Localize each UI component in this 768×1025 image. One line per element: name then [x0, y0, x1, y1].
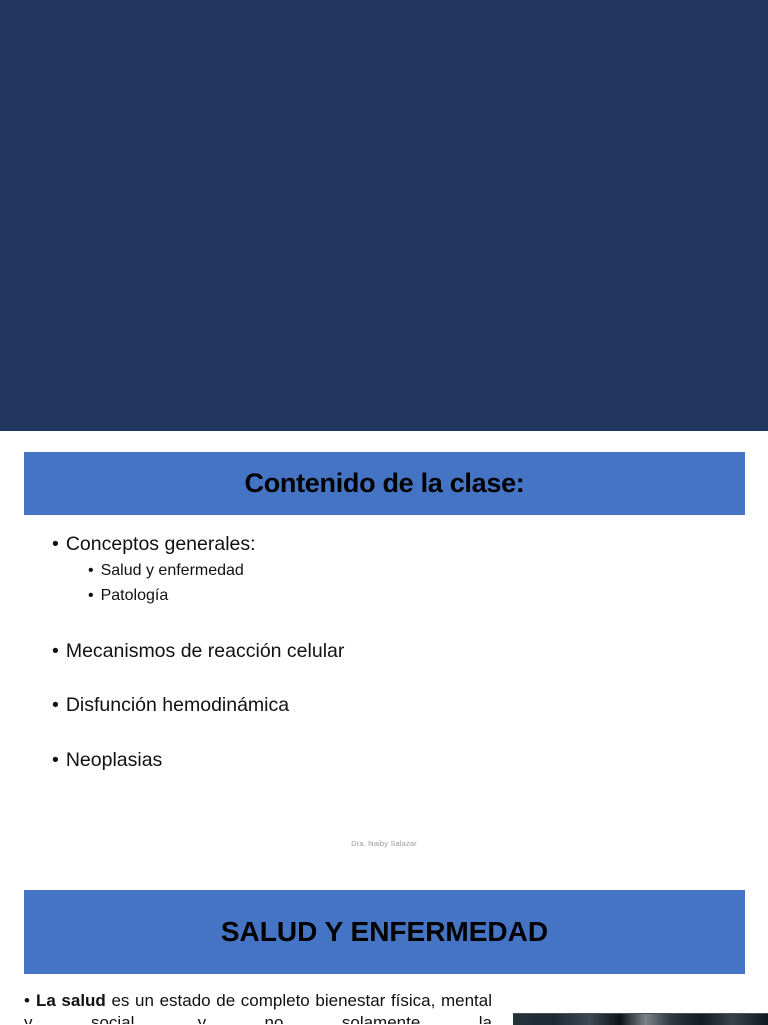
slide-title: SALUD Y ENFERMEDAD	[221, 917, 548, 948]
bullet-dot-icon: •	[52, 640, 59, 662]
slide-footer-author: Dra. Naiby Salazar	[0, 839, 768, 848]
bullet-dot-icon: •	[52, 694, 59, 716]
spacer	[52, 613, 692, 642]
bullet-dot-icon: •	[52, 533, 59, 555]
bullet-dot-icon: •	[88, 587, 94, 604]
bullet-list: •Conceptos generales: •Salud y enfermeda…	[52, 535, 692, 778]
slide-title-banner: Contenido de la clase:	[24, 452, 745, 515]
list-item: •Conceptos generales:	[52, 535, 692, 555]
slide-contenido-de-la-clase: Contenido de la clase: •Conceptos genera…	[0, 431, 768, 890]
list-item: •Mecanismos de reacción celular	[52, 642, 692, 662]
list-item: •Salud y enfermedad	[52, 563, 692, 579]
list-item-label: Salud y enfermedad	[101, 562, 244, 579]
list-item: •Disfunción hemodinámica	[52, 696, 692, 716]
slide-salud-y-enfermedad: SALUD Y ENFERMEDAD •La salud es un estad…	[0, 890, 768, 1024]
slide-title-banner: SALUD Y ENFERMEDAD	[24, 890, 745, 974]
list-item: •Neoplasias	[52, 751, 692, 771]
slide-title: Contenido de la clase:	[245, 469, 525, 499]
list-item-label: Patología	[101, 587, 169, 604]
list-item: •Patología	[52, 588, 692, 604]
slide-photo-image	[513, 1013, 768, 1025]
bullet-dot-icon: •	[52, 749, 59, 771]
list-item-label: Disfunción hemodinámica	[66, 694, 289, 716]
list-item-label: Conceptos generales:	[66, 533, 256, 555]
bullet-dot-icon: •	[88, 562, 94, 579]
list-item-label: Neoplasias	[66, 749, 162, 771]
slide-navy-blank	[0, 0, 768, 431]
bullet-dot-icon: •	[24, 991, 30, 1010]
list-item-label: Mecanismos de reacción celular	[66, 640, 345, 662]
spacer	[52, 669, 692, 696]
body-lead-bold: La salud	[36, 991, 106, 1010]
body-paragraph: •La salud es un estado de completo biene…	[24, 990, 492, 1024]
spacer	[52, 724, 692, 751]
document-page: Contenido de la clase: •Conceptos genera…	[0, 0, 768, 1024]
